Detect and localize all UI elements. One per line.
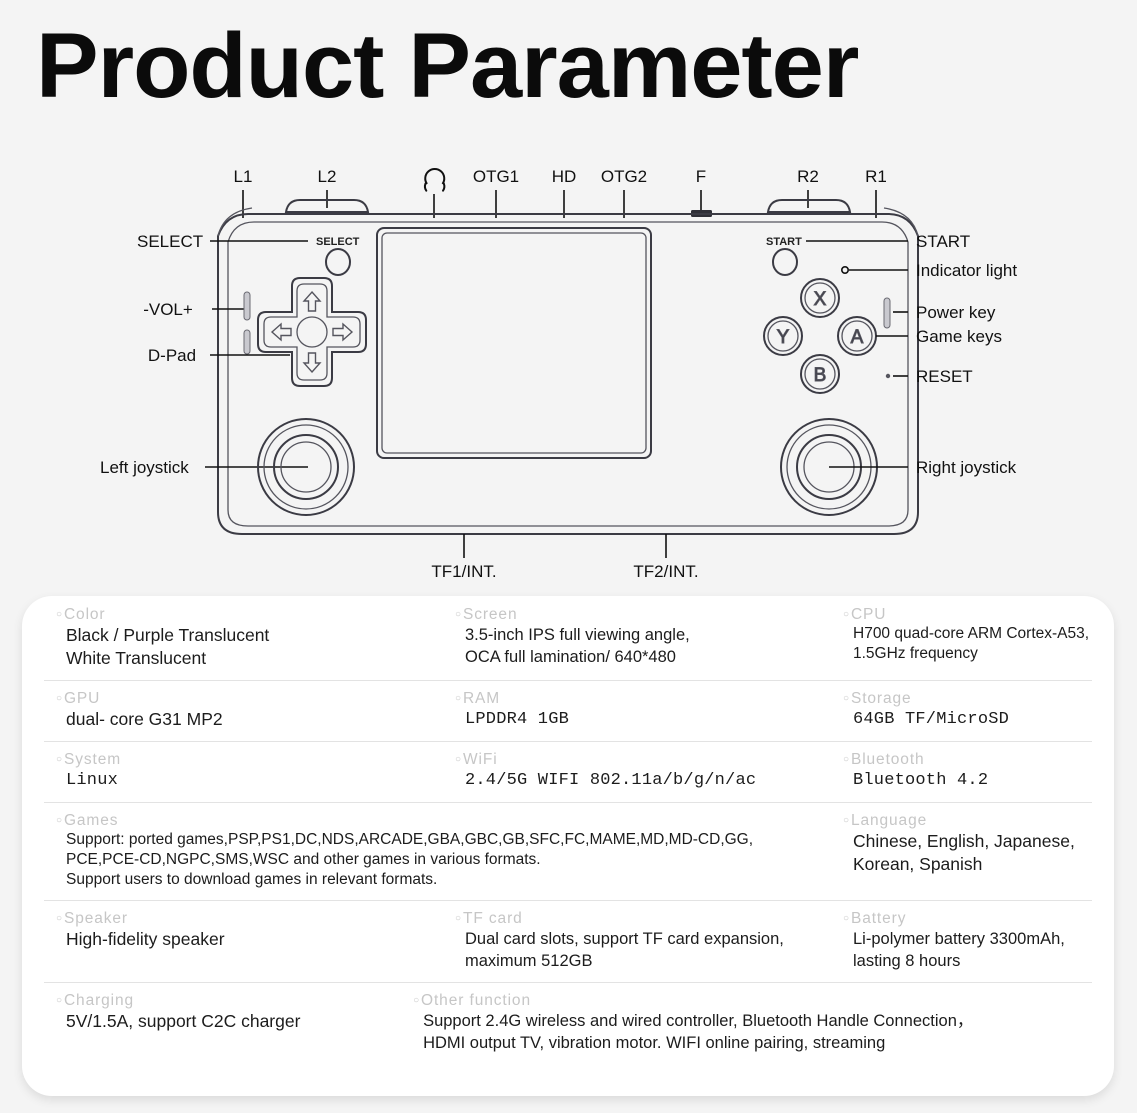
spec-cell-gpu: ○GPU dual- core G31 MP2 [22, 680, 437, 741]
spec-label: ○TF card [455, 909, 819, 928]
callout-l1-label: L1 [234, 167, 253, 186]
bullet-icon: ○ [56, 693, 63, 704]
spec-label-text: Charging [64, 992, 134, 1009]
button-b-label: B [814, 365, 827, 386]
spec-label-text: Color [64, 606, 106, 623]
game-keys-callout: Game keys [876, 327, 1002, 346]
spec-cell-language: ○Language Chinese, English, Japanese, Ko… [829, 802, 1114, 900]
bullet-icon: ○ [843, 754, 850, 765]
grip-curve-right [884, 208, 918, 236]
spec-label: ○Storage [843, 689, 1104, 708]
spec-row: ○GPU dual- core G31 MP2 ○RAM LPDDR4 1GB … [22, 680, 1114, 741]
spec-cell-charging: ○Charging 5V/1.5A, support C2C charger [22, 982, 395, 1064]
bullet-icon: ○ [56, 995, 63, 1006]
callout-l2-label: L2 [318, 167, 337, 186]
button-x[interactable]: X [801, 279, 839, 317]
device-start-text: START [766, 236, 802, 248]
game-keys[interactable]: X Y A B [764, 279, 876, 393]
spec-row: ○Charging 5V/1.5A, support C2C charger ○… [22, 982, 1114, 1064]
spec-label-text: Battery [851, 910, 906, 927]
callout-right-joystick-label: Right joystick [916, 458, 1017, 477]
bullet-icon: ○ [455, 609, 462, 620]
spec-label: ○Screen [455, 605, 819, 624]
callout-f-label: F [696, 167, 706, 186]
spec-cell-other-function: ○Other function Support 2.4G wireless an… [395, 982, 1114, 1064]
callout-select-label: SELECT [137, 232, 203, 251]
spec-label-text: Speaker [64, 910, 128, 927]
start-callout: START [806, 232, 970, 251]
callout-r2-label: R2 [797, 167, 819, 186]
spec-label-text: Games [64, 812, 118, 829]
spec-value: Li-polymer battery 3300mAh, lasting 8 ho… [843, 928, 1104, 972]
bullet-icon: ○ [455, 693, 462, 704]
spec-label-text: Other function [421, 992, 531, 1009]
button-x-label: X [814, 289, 827, 310]
spec-cell-system: ○System Linux [22, 741, 437, 802]
volume-rocker[interactable] [244, 292, 250, 320]
reset-callout: RESET [893, 367, 973, 386]
callout-indicator-label: Indicator light [916, 261, 1017, 280]
dpad-up-arrow-icon [304, 292, 320, 311]
bullet-icon: ○ [56, 609, 63, 620]
bullet-icon: ○ [843, 815, 850, 826]
spec-label: ○GPU [56, 689, 427, 708]
right-joystick-callout: Right joystick [829, 458, 1017, 477]
button-a-label: A [851, 327, 864, 348]
device-screen [377, 228, 651, 458]
select-button[interactable] [326, 249, 350, 275]
callout-vol-label: -VOL+ [143, 300, 193, 319]
spec-row: ○Color Black / Purple Translucent White … [22, 596, 1114, 680]
spec-label-text: WiFi [463, 751, 498, 768]
spec-label: ○Speaker [56, 909, 427, 928]
spec-value: LPDDR4 1GB [455, 708, 819, 731]
indicator-light-callout: Indicator light [849, 261, 1017, 280]
spec-label: ○RAM [455, 689, 819, 708]
dpad-inner [264, 284, 360, 380]
indicator-light [842, 267, 848, 273]
screen-inner-frame [382, 233, 646, 453]
product-diagram: L1 L2 OTG1 HD OTG2 F R2 R1 [0, 140, 1137, 595]
button-y-label: Y [777, 327, 790, 348]
top-callouts: L1 L2 OTG1 HD OTG2 F R2 R1 [234, 167, 887, 218]
spec-label: ○System [56, 750, 427, 769]
spec-label: ○Charging [56, 991, 385, 1010]
screen-outer-frame [377, 228, 651, 458]
bullet-icon: ○ [56, 754, 63, 765]
device-select-text: SELECT [316, 236, 360, 248]
callout-otg2-label: OTG2 [601, 167, 647, 186]
spec-label-text: Language [851, 812, 927, 829]
spec-value: Bluetooth 4.2 [843, 769, 1104, 792]
page-title: Product Parameter [36, 14, 1122, 118]
spec-value: H700 quad-core ARM Cortex-A53, 1.5GHz fr… [843, 624, 1104, 664]
volume-rocker-second[interactable] [244, 330, 250, 354]
dpad-left-arrow-icon [272, 324, 291, 340]
callout-left-joystick-label: Left joystick [100, 458, 189, 477]
left-joystick-callout: Left joystick [100, 458, 308, 477]
volume-callout: -VOL+ [143, 300, 246, 319]
button-y[interactable]: Y [764, 317, 802, 355]
spec-cell-storage: ○Storage 64GB TF/MicroSD [829, 680, 1114, 741]
spec-row: ○Speaker High-fidelity speaker ○TF card … [22, 900, 1114, 982]
spec-label-text: Bluetooth [851, 751, 925, 768]
spec-cell-tf-card: ○TF card Dual card slots, support TF car… [437, 900, 829, 982]
spec-label-text: System [64, 751, 121, 768]
bullet-icon: ○ [56, 815, 63, 826]
callout-reset-label: RESET [916, 367, 973, 386]
bullet-icon: ○ [413, 995, 420, 1006]
spec-label: ○Color [56, 605, 427, 624]
spec-cell-screen: ○Screen 3.5-inch IPS full viewing angle,… [437, 596, 829, 680]
reset-pinhole[interactable] [886, 374, 890, 378]
dpad-right-arrow-icon [333, 324, 352, 340]
dpad-down-arrow-icon [304, 353, 320, 372]
spec-label: ○CPU [843, 605, 1104, 624]
spec-label-text: TF card [463, 910, 523, 927]
spec-label: ○Other function [413, 991, 1104, 1010]
spec-value: 64GB TF/MicroSD [843, 708, 1104, 731]
spec-value: High-fidelity speaker [56, 928, 427, 951]
spec-label: ○WiFi [455, 750, 819, 769]
spec-value: 3.5-inch IPS full viewing angle, OCA ful… [455, 624, 819, 668]
spec-value: Black / Purple Translucent White Translu… [56, 624, 427, 670]
spec-cell-ram: ○RAM LPDDR4 1GB [437, 680, 829, 741]
select-callout: SELECT [137, 232, 308, 251]
spec-value: 5V/1.5A, support C2C charger [56, 1010, 385, 1033]
r2-shoulder-button[interactable] [768, 200, 850, 212]
spec-cell-wifi: ○WiFi 2.4/5G WIFI 802.11a/b/g/n/ac [437, 741, 829, 802]
spec-label-text: Screen [463, 606, 518, 623]
callout-power-label: Power key [916, 303, 996, 322]
spec-value: dual- core G31 MP2 [56, 708, 427, 731]
callout-tf2-label: TF2/INT. [633, 562, 698, 581]
bottom-callouts: TF1/INT. TF2/INT. [431, 534, 698, 581]
spec-label-text: RAM [463, 690, 500, 707]
callout-r1-label: R1 [865, 167, 887, 186]
bullet-icon: ○ [455, 754, 462, 765]
bullet-icon: ○ [455, 913, 462, 924]
bullet-icon: ○ [843, 609, 850, 620]
spec-label-text: Storage [851, 690, 912, 707]
shoulder-buttons [286, 200, 850, 212]
spec-cell-cpu: ○CPU H700 quad-core ARM Cortex-A53, 1.5G… [829, 596, 1114, 680]
spec-label: ○Battery [843, 909, 1104, 928]
spec-label: ○Bluetooth [843, 750, 1104, 769]
spec-cell-bluetooth: ○Bluetooth Bluetooth 4.2 [829, 741, 1114, 802]
dpad-outer [258, 278, 366, 386]
spec-label-text: GPU [64, 690, 100, 707]
dpad[interactable] [258, 278, 366, 386]
spec-value: Support: ported games,PSP,PS1,DC,NDS,ARC… [56, 830, 819, 890]
callout-dpad-label: D-Pad [148, 346, 196, 365]
spec-row: ○Games Support: ported games,PSP,PS1,DC,… [22, 802, 1114, 900]
device-diagram-svg: L1 L2 OTG1 HD OTG2 F R2 R1 [0, 140, 1137, 595]
start-button[interactable] [773, 249, 797, 275]
callout-game-keys-label: Game keys [916, 327, 1002, 346]
spec-label: ○Games [56, 811, 819, 830]
callout-start-label: START [916, 232, 970, 251]
spec-cell-battery: ○Battery Li-polymer battery 3300mAh, las… [829, 900, 1114, 982]
headphone-jack-icon [425, 169, 444, 191]
spec-row: ○System Linux ○WiFi 2.4/5G WIFI 802.11a/… [22, 741, 1114, 802]
bullet-icon: ○ [843, 913, 850, 924]
callout-hd-label: HD [552, 167, 577, 186]
spec-value: Chinese, English, Japanese, Korean, Span… [843, 830, 1104, 876]
callout-otg1-label: OTG1 [473, 167, 519, 186]
dpad-center [297, 317, 327, 347]
callout-tf1-label: TF1/INT. [431, 562, 496, 581]
spec-value: Dual card slots, support TF card expansi… [455, 928, 819, 972]
spec-cell-color: ○Color Black / Purple Translucent White … [22, 596, 437, 680]
spec-value: Support 2.4G wireless and wired controll… [413, 1010, 1104, 1054]
bullet-icon: ○ [843, 693, 850, 704]
grip-curve-left [218, 208, 252, 236]
spec-value: Linux [56, 769, 427, 792]
button-b[interactable]: B [801, 355, 839, 393]
button-a[interactable]: A [838, 317, 876, 355]
spec-label-text: CPU [851, 606, 886, 623]
spec-label: ○Language [843, 811, 1104, 830]
spec-table: ○Color Black / Purple Translucent White … [22, 596, 1114, 1096]
spec-cell-games: ○Games Support: ported games,PSP,PS1,DC,… [22, 802, 829, 900]
bullet-icon: ○ [56, 913, 63, 924]
spec-value: 2.4/5G WIFI 802.11a/b/g/n/ac [455, 769, 819, 792]
spec-cell-speaker: ○Speaker High-fidelity speaker [22, 900, 437, 982]
power-key[interactable] [884, 298, 890, 328]
device-body-bevel [228, 222, 908, 526]
